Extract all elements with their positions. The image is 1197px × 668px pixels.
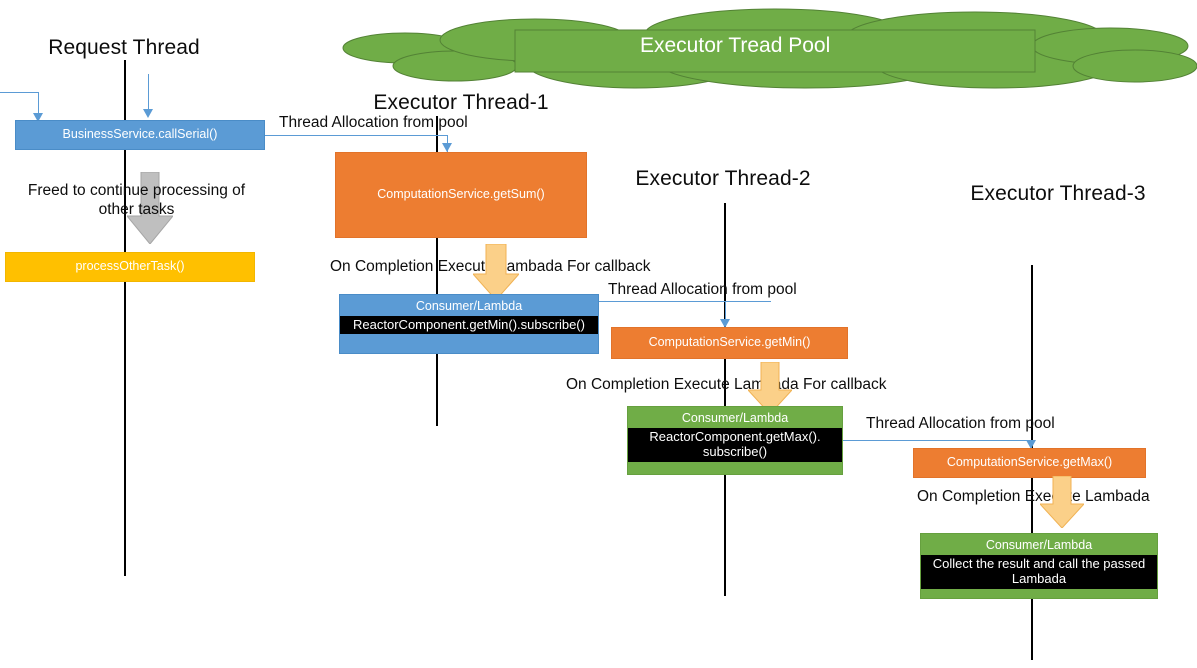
connector-alloc-1-h (265, 135, 447, 136)
lane-title-executor-thread-1: Executor Thread-1 (373, 91, 548, 115)
box-business-service-call-serial[interactable]: BusinessService.callSerial() (15, 120, 265, 150)
lane-title-request-thread: Request Thread (48, 36, 200, 60)
consumer-get-max-header: Consumer/Lambda (628, 407, 842, 428)
consumer-collect-result-footer (921, 589, 1157, 598)
consumer-collect-result-code: Collect the result and call the passed L… (921, 555, 1157, 589)
consumer-collect-result-header: Consumer/Lambda (921, 534, 1157, 555)
consumer-get-min[interactable]: Consumer/Lambda ReactorComponent.getMin(… (339, 294, 599, 354)
box-computation-service-get-sum[interactable]: ComputationService.getSum() (335, 152, 587, 238)
box-computation-service-get-max[interactable]: ComputationService.getMax() (913, 448, 1146, 478)
note-thread-allocation-1: Thread Allocation from pool (279, 114, 468, 133)
consumer-get-max-footer (628, 462, 842, 474)
consumer-get-min-code: ReactorComponent.getMin().subscribe() (340, 316, 598, 334)
lifeline-executor-thread-2 (724, 203, 726, 596)
connector-request-lifeline-arrow (143, 109, 153, 118)
connector-alloc-3-h (843, 440, 1031, 441)
lane-title-executor-thread-3: Executor Thread-3 (970, 182, 1145, 206)
consumer-collect-result[interactable]: Consumer/Lambda Collect the result and c… (920, 533, 1158, 599)
note-on-completion-2: On Completion Execute Lambada For callba… (566, 376, 887, 395)
connector-request-entry-h (0, 92, 38, 93)
lane-title-executor-thread-2: Executor Thread-2 (635, 167, 810, 191)
note-freed-to-continue: Freed to continue processing of other ta… (14, 182, 259, 219)
on-completion-block-arrow-1 (473, 244, 519, 300)
connector-alloc-1-arrow (442, 143, 452, 152)
note-on-completion-3: On Completion Execute Lambada (917, 488, 1150, 507)
note-thread-allocation-2: Thread Allocation from pool (608, 281, 797, 300)
box-computation-service-get-min[interactable]: ComputationService.getMin() (611, 327, 848, 359)
on-completion-block-arrow-3 (1040, 476, 1084, 528)
consumer-get-max-code: ReactorComponent.getMax(). subscribe() (628, 428, 842, 462)
connector-request-lifeline-v (148, 74, 149, 112)
diagram-canvas: Executor Tread Pool Request Thread Execu… (0, 0, 1197, 668)
consumer-get-min-header: Consumer/Lambda (340, 295, 598, 316)
cloud-title: Executor Tread Pool (640, 34, 830, 58)
box-process-other-task[interactable]: processOtherTask() (5, 252, 255, 282)
connector-alloc-2-h (599, 301, 771, 302)
consumer-get-max[interactable]: Consumer/Lambda ReactorComponent.getMax(… (627, 406, 843, 475)
note-thread-allocation-3: Thread Allocation from pool (866, 415, 1055, 434)
consumer-get-min-footer (340, 334, 598, 353)
